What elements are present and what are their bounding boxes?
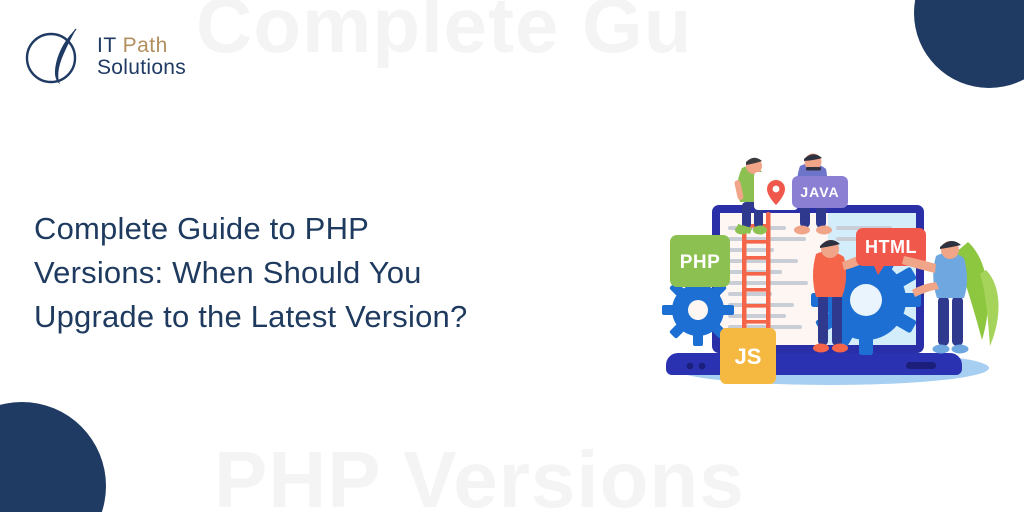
location-pin-card <box>754 172 798 210</box>
badge-php: PHP <box>670 235 730 287</box>
corner-decoration-top-right <box>914 0 1024 88</box>
laptop-base-dot <box>687 363 694 370</box>
badge-java: JAVA <box>792 176 848 208</box>
it-path-solutions-monogram-icon <box>24 26 88 88</box>
badge-html-label: HTML <box>865 237 917 257</box>
logo-word-it: IT <box>97 34 123 57</box>
logo-word-path: Path <box>123 34 168 57</box>
logo-line-one: IT Path <box>97 35 186 57</box>
headline-line-1: Complete Guide to PHP <box>34 207 634 251</box>
brand-logo[interactable]: IT Path Solutions <box>24 26 186 88</box>
hero-illustration: JAVA PHP JS <box>650 150 1012 400</box>
badge-js: JS <box>720 328 776 384</box>
badge-php-label: PHP <box>680 252 721 273</box>
logo-line-two: Solutions <box>97 57 186 79</box>
watermark-bottom: PHP Versions <box>214 440 745 512</box>
watermark-top: Complete Gu <box>196 0 692 64</box>
headline-line-3: Upgrade to the Latest Version? <box>34 295 634 339</box>
page-title: Complete Guide to PHP Versions: When Sho… <box>34 207 634 340</box>
laptop-base-dot <box>699 363 706 370</box>
badge-java-label: JAVA <box>800 184 839 200</box>
blog-hero-banner: Complete Gu PHP Versions IT Path Solutio… <box>0 0 1024 512</box>
badge-js-label: JS <box>735 344 762 369</box>
laptop-base-touchpad <box>906 362 936 369</box>
headline-line-2: Versions: When Should You <box>34 251 634 295</box>
corner-decoration-bottom-left <box>0 402 106 512</box>
